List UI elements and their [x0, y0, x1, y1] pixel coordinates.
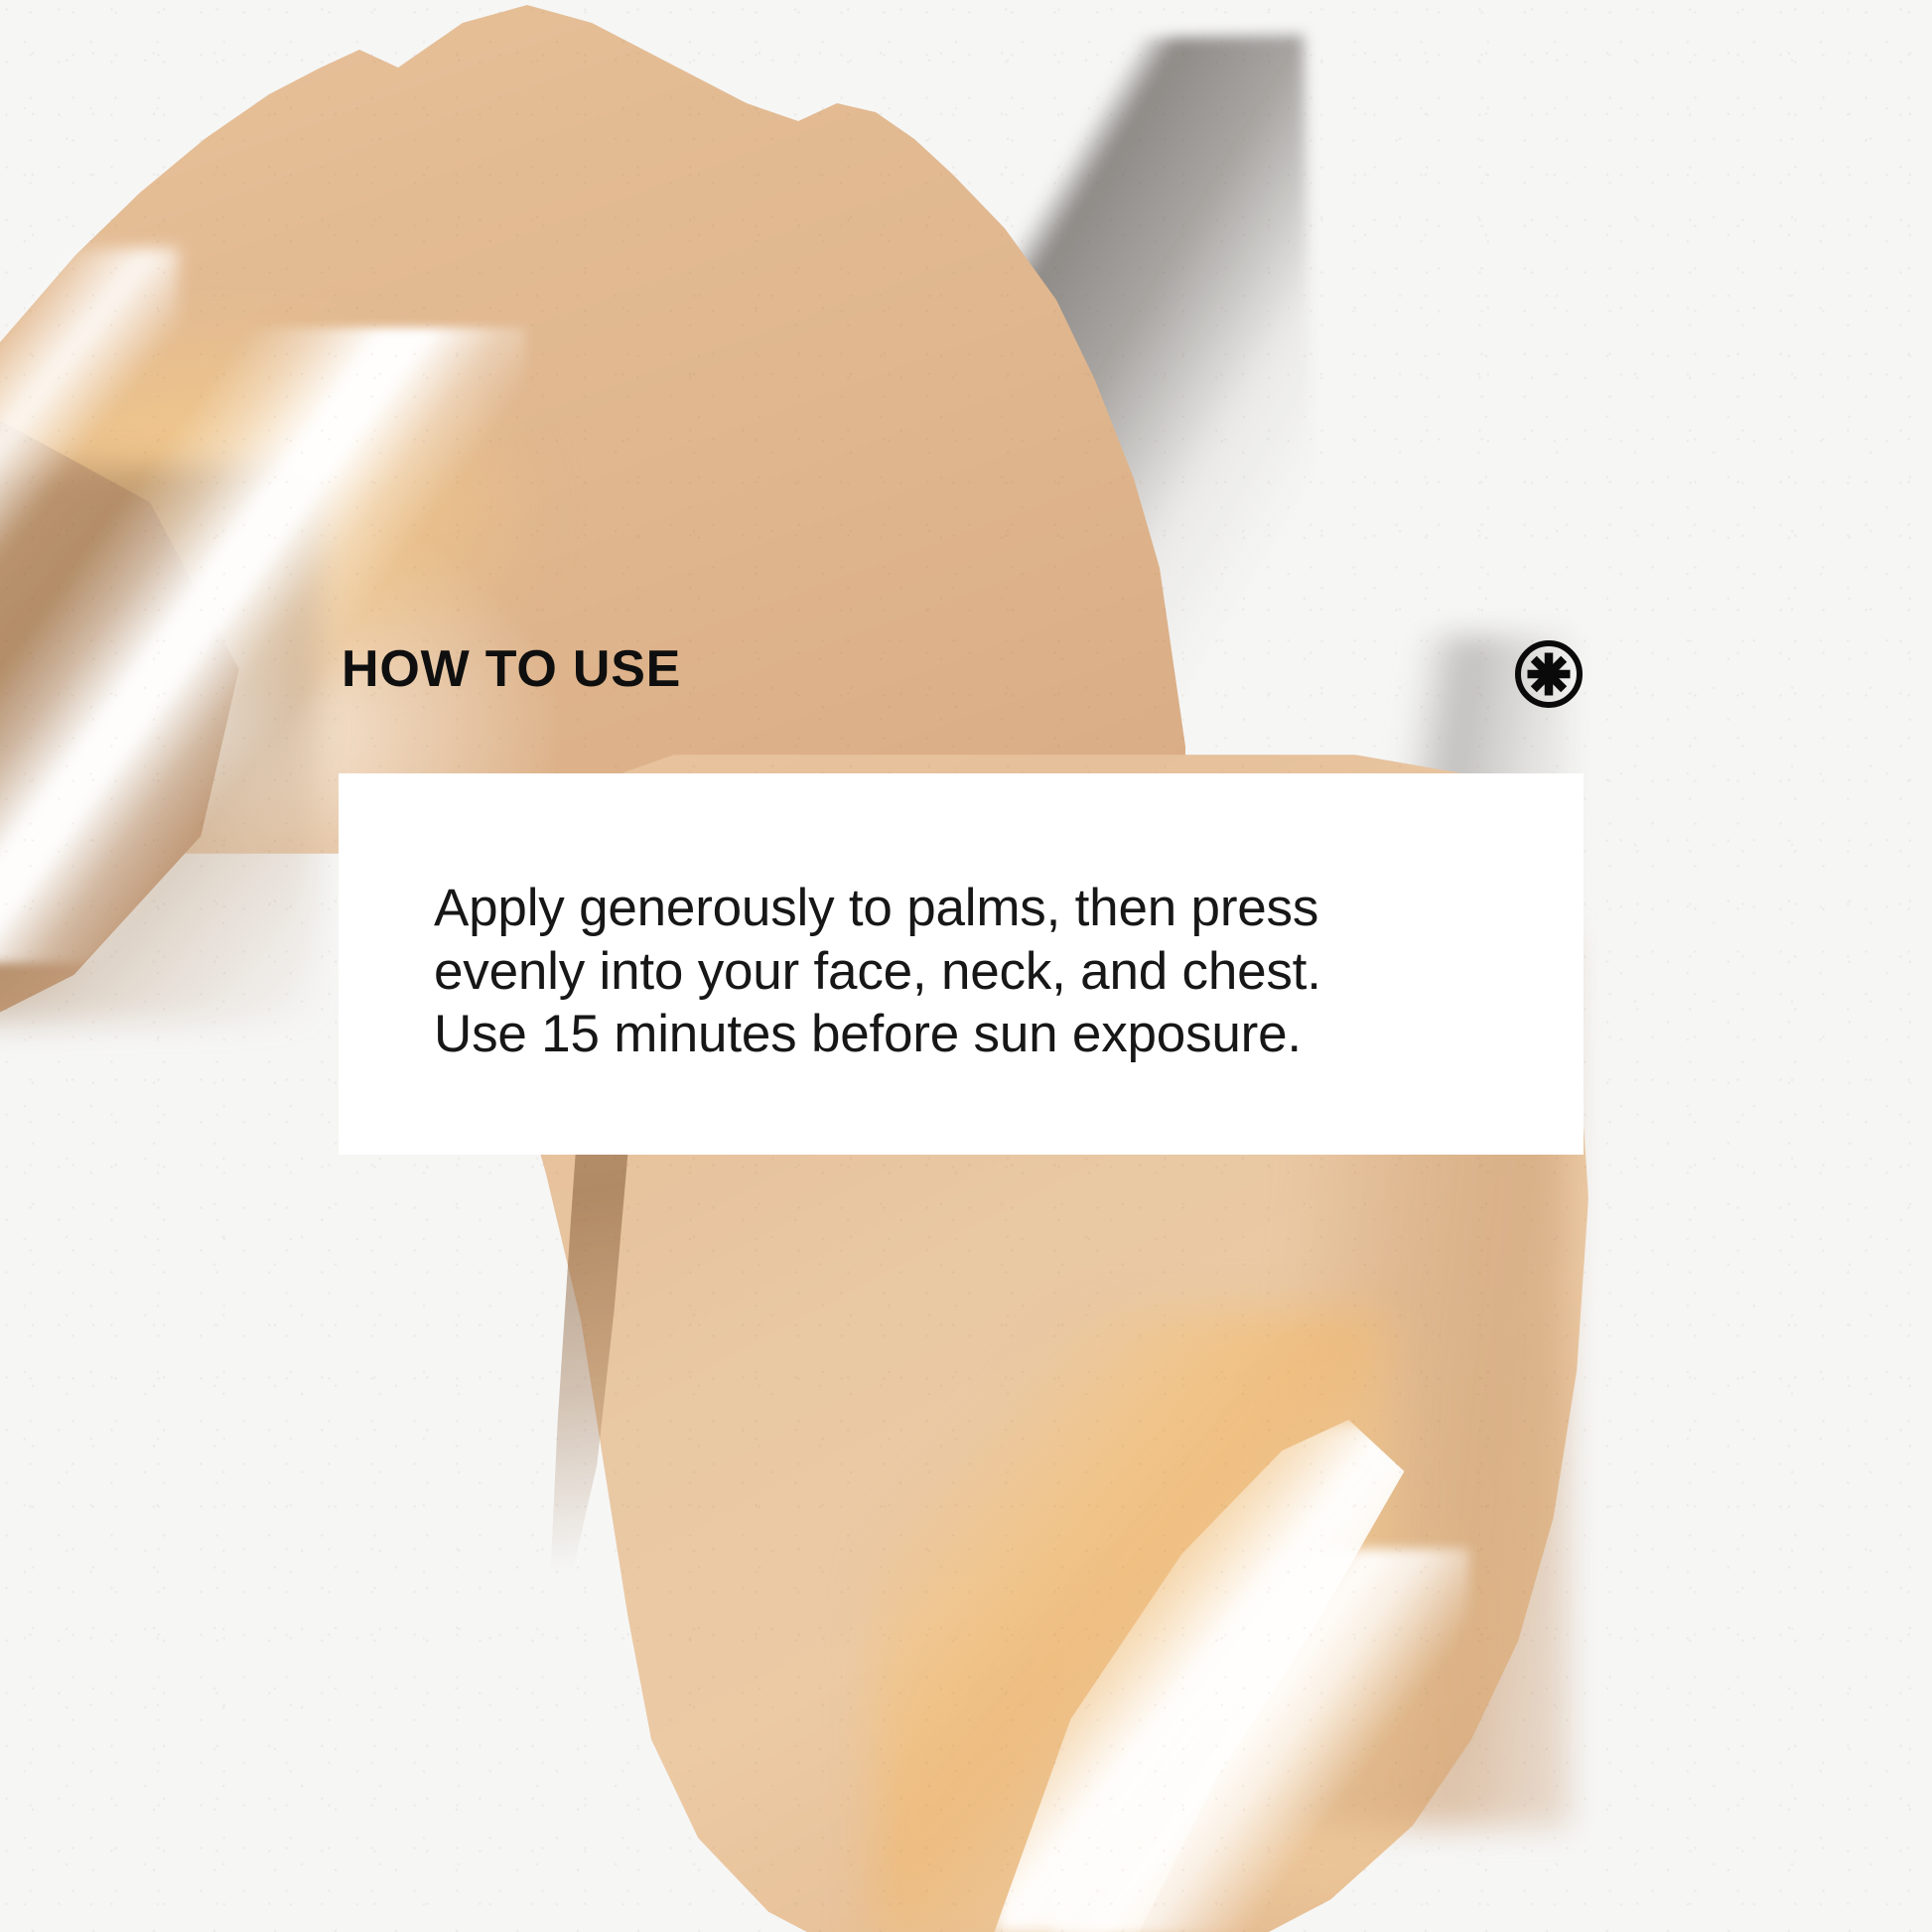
- page-title: HOW TO USE: [342, 643, 681, 695]
- instruction-text: Apply generously to palms, then press ev…: [434, 877, 1486, 1066]
- asterisk-in-circle-icon: [1513, 638, 1585, 710]
- instruction-line-1: Apply generously to palms, then press: [434, 877, 1486, 940]
- product-instruction-slide: HOW TO USE Apply generously to palms, th…: [0, 0, 1932, 1932]
- instruction-card: Apply generously to palms, then press ev…: [339, 773, 1584, 1155]
- instruction-line-3: Use 15 minutes before sun exposure.: [434, 1003, 1486, 1066]
- cream-highlight-streak-2: [0, 248, 179, 675]
- instruction-line-2: evenly into your face, neck, and chest.: [434, 940, 1486, 1004]
- cream-gloss-highlight-2: [1052, 1549, 1469, 1932]
